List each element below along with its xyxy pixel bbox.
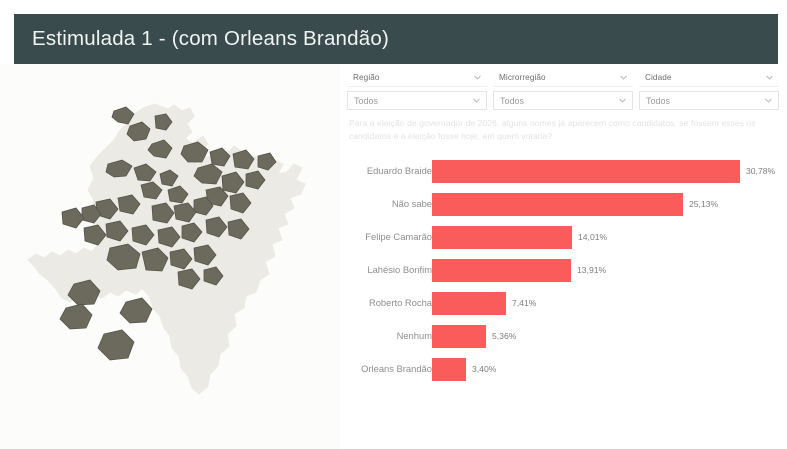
bar-value-label: 25,13% — [689, 199, 718, 209]
filter-regiao-value: Todos — [354, 96, 378, 106]
filter-microrregiao-header[interactable]: Microrregião — [493, 69, 633, 87]
bar-fill[interactable] — [432, 259, 571, 282]
bar-fill[interactable] — [432, 358, 466, 381]
bar-row[interactable]: Não sabe25,13% — [340, 193, 787, 216]
bar-category-label: Roberto Rocha — [232, 297, 432, 308]
question-text: Para a eleição de governador de 2026, al… — [349, 117, 769, 143]
bar-row[interactable]: Nenhum5,36% — [340, 325, 787, 348]
page-title: Estimulada 1 - (com Orleans Brandão) — [14, 27, 389, 51]
chevron-down-icon[interactable] — [618, 96, 627, 105]
filter-cidade-select[interactable]: Todos — [639, 91, 779, 110]
filter-cidade[interactable]: Cidade Todos — [639, 69, 779, 111]
bar-track — [432, 292, 772, 315]
bar-category-label: Não sabe — [232, 198, 432, 209]
bar-row[interactable]: Orleans Brandão3,40% — [340, 358, 787, 381]
chevron-down-icon[interactable] — [764, 96, 773, 105]
bar-category-label: Felipe Camarão — [232, 231, 432, 242]
filter-microrregiao-label: Microrregião — [499, 73, 546, 82]
bar-value-label: 13,91% — [577, 265, 606, 275]
bar-value-label: 7,41% — [512, 298, 536, 308]
dashboard-header: Estimulada 1 - (com Orleans Brandão) — [14, 14, 778, 64]
maranhao-choropleth-map[interactable] — [22, 102, 322, 402]
filter-cidade-value: Todos — [646, 96, 670, 106]
bar-row[interactable]: Roberto Rocha7,41% — [340, 292, 787, 315]
chevron-down-icon[interactable] — [619, 73, 628, 82]
vote-intention-bar-chart: Eduardo Braide30,78%Não sabe25,13%Felipe… — [340, 160, 787, 410]
right-panel: Região Todos Microrregião — [340, 64, 787, 449]
bar-value-label: 14,01% — [578, 232, 607, 242]
bar-fill[interactable] — [432, 226, 572, 249]
filter-cidade-label: Cidade — [645, 73, 672, 82]
chevron-down-icon[interactable] — [472, 96, 481, 105]
filter-bar: Região Todos Microrregião — [347, 69, 780, 111]
bar-fill[interactable] — [432, 160, 740, 183]
filter-cidade-header[interactable]: Cidade — [639, 69, 779, 87]
bar-row[interactable]: Lahésio Bonfim13,91% — [340, 259, 787, 282]
bar-fill[interactable] — [432, 292, 506, 315]
bar-category-label: Orleans Brandão — [232, 363, 432, 374]
bar-row[interactable]: Felipe Camarão14,01% — [340, 226, 787, 249]
bar-value-label: 3,40% — [472, 364, 496, 374]
map-panel: 1998 Soma de Amostra MARANHÃO — [0, 64, 340, 449]
filter-regiao[interactable]: Região Todos — [347, 69, 487, 111]
bar-row[interactable]: Eduardo Braide30,78% — [340, 160, 787, 183]
filter-regiao-header[interactable]: Região — [347, 69, 487, 87]
filter-regiao-select[interactable]: Todos — [347, 91, 487, 110]
filter-microrregiao[interactable]: Microrregião Todos — [493, 69, 633, 111]
bar-fill[interactable] — [432, 193, 683, 216]
filter-microrregiao-value: Todos — [500, 96, 524, 106]
chevron-down-icon[interactable] — [473, 73, 482, 82]
chevron-down-icon[interactable] — [765, 73, 774, 82]
bar-value-label: 5,36% — [492, 331, 516, 341]
bar-value-label: 30,78% — [746, 166, 775, 176]
bar-track — [432, 325, 772, 348]
bar-fill[interactable] — [432, 325, 486, 348]
filter-microrregiao-select[interactable]: Todos — [493, 91, 633, 110]
bar-track — [432, 160, 772, 183]
bar-category-label: Lahésio Bonfim — [232, 264, 432, 275]
bar-category-label: Eduardo Braide — [232, 165, 432, 176]
bar-category-label: Nenhum — [232, 330, 432, 341]
filter-regiao-label: Região — [353, 73, 380, 82]
dashboard-page: Estimulada 1 - (com Orleans Brandão) — [0, 0, 787, 449]
bar-track — [432, 193, 772, 216]
